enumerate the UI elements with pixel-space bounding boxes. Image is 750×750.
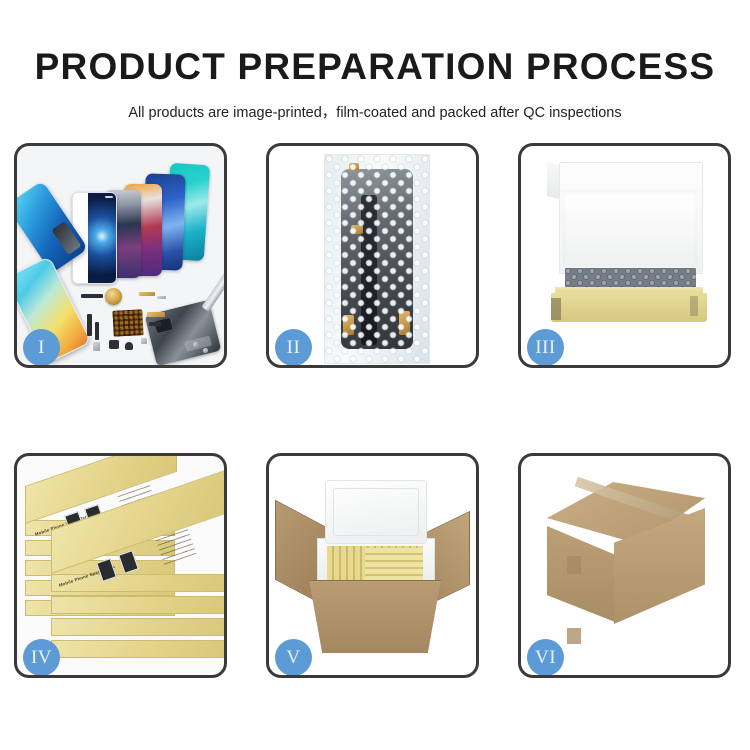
step-badge-3: III xyxy=(527,329,564,366)
part-strip-3 xyxy=(157,296,166,299)
screwdriver-icon xyxy=(201,270,224,312)
step-badge-4: IV xyxy=(23,639,60,676)
step-panel-products-and-parts[interactable]: I xyxy=(14,143,227,368)
part-flex-1 xyxy=(87,314,92,336)
box-corner-right xyxy=(690,296,698,316)
step-panel-inner-box-foam[interactable]: III xyxy=(518,143,731,368)
part-screw-1 xyxy=(193,342,198,347)
stack-box-front-3 xyxy=(51,618,224,636)
stack-box-front-4 xyxy=(51,640,224,658)
part-connector-1 xyxy=(147,312,165,317)
step-badge-6: VI xyxy=(527,639,564,676)
step-badge-5: V xyxy=(275,639,312,676)
carton-tape-lower xyxy=(567,628,581,644)
foam-cooler-lid xyxy=(325,480,427,544)
stack-box-front-2 xyxy=(51,596,224,614)
part-flex-2 xyxy=(95,322,99,340)
box-corner-left xyxy=(551,298,561,320)
box-front-panel xyxy=(551,293,707,322)
page-title: PRODUCT PREPARATION PROCESS xyxy=(0,0,750,85)
carton-left-face xyxy=(547,526,615,622)
foam-sheet xyxy=(563,190,697,266)
page-subtitle: All products are image-printed，film-coat… xyxy=(0,85,750,122)
step-panel-stacked-inner-boxes[interactable]: Mobile Phone Spare Parts Mobile Phone Sp… xyxy=(14,453,227,678)
step-panel-foam-cooler-carton[interactable]: V xyxy=(266,453,479,678)
part-small-3 xyxy=(125,342,133,350)
coil-part xyxy=(105,288,122,305)
bubble-wrap-bag xyxy=(324,154,430,364)
bubble-texture xyxy=(325,155,429,363)
carton-tape-upper xyxy=(567,556,581,574)
carton-body xyxy=(309,580,441,653)
part-small-1 xyxy=(93,342,100,351)
glass-notch xyxy=(105,196,113,198)
part-screw-2 xyxy=(203,348,208,353)
step-panel-sealed-shipping-carton[interactable]: VI xyxy=(518,453,731,678)
part-connector-2 xyxy=(149,322,161,326)
step-badge-1: I xyxy=(23,329,60,366)
part-small-4 xyxy=(141,338,147,344)
header: PRODUCT PREPARATION PROCESS All products… xyxy=(0,0,750,122)
step-badge-2: II xyxy=(275,329,312,366)
part-strip-2 xyxy=(139,292,155,296)
step-panel-bubble-wrap-packing[interactable]: II xyxy=(266,143,479,368)
part-small-2 xyxy=(109,340,119,349)
box-stack: Mobile Phone Spare Parts Mobile Phone Sp… xyxy=(25,478,224,658)
process-step-grid: I II III xyxy=(14,143,736,678)
part-strip-1 xyxy=(81,294,103,298)
chip-grid-part xyxy=(112,309,143,337)
glass-screen-image xyxy=(88,193,116,283)
